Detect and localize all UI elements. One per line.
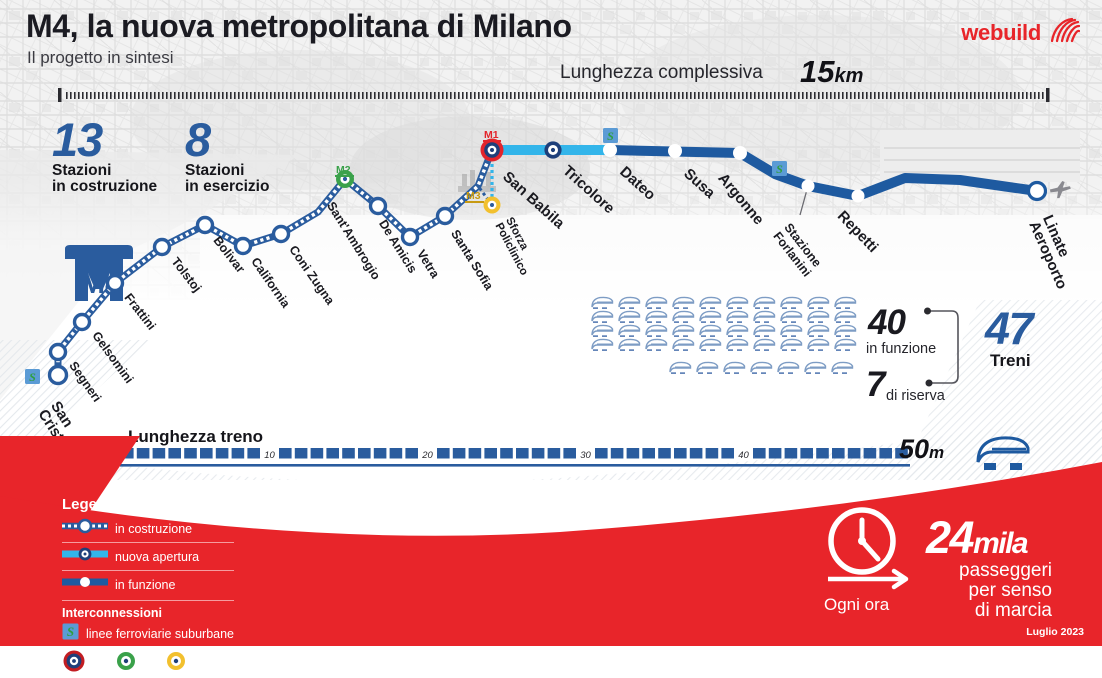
train-icon [805,324,830,337]
train-icon [697,310,722,323]
train-icon [670,310,695,323]
train-icon [670,296,695,309]
station-node-stazione-forlanini [802,180,815,193]
trains-total-label: Treni [990,351,1031,371]
station-node-san-cristoforo [50,367,67,384]
train-icon [832,338,857,351]
train-icon [778,324,803,337]
s-line-icon: S [62,623,79,645]
station-node-dateo [603,143,617,157]
legend-m2-icon [116,651,136,676]
train-row [589,310,857,323]
s-line-icon: S [603,128,618,143]
train-icon [643,338,668,351]
train-icon [589,338,614,351]
train-icon [748,361,773,374]
train-icon [643,296,668,309]
train-icon [775,361,800,374]
legend-swatch-new-opening [62,546,108,567]
passengers-number: 24mila [926,512,1027,564]
trains-reserve-number: 7 [866,365,884,405]
station-node-coni-zugna [274,227,289,242]
train-icon [724,310,749,323]
station-node-vetra [403,230,418,245]
legend-item-suburban: S linee ferroviarie suburbane [62,625,234,642]
legend-metro-lines: M1 M2 M3 [62,649,234,678]
legend-divider [62,600,234,601]
train-icon [721,361,746,374]
trains-bracket [924,306,966,393]
station-node-gelsomini [75,315,90,330]
footer-date: Luglio 2023 [1026,626,1084,638]
legend-swatch-under-construction [62,518,108,539]
train-icon [667,361,692,374]
train-icon [697,324,722,337]
clock-caption: Ogni ora [824,595,889,615]
train-icon [832,324,857,337]
station-node-tolstoj [155,240,170,255]
legend-m1-label: M1 [90,656,108,671]
train-icon [616,296,641,309]
legend-divider [62,542,234,543]
station-node-segneri [51,345,66,360]
train-icon [697,338,722,351]
train-icon [751,296,776,309]
legend-m1-icon [62,649,86,678]
train-row [589,296,857,309]
legend-label: in funzione [115,578,175,592]
legend-swatch-in-service [62,574,108,595]
train-icon [832,310,857,323]
train-icon [670,324,695,337]
train-icon [589,310,614,323]
train-icon [589,296,614,309]
svg-text:S: S [29,370,36,384]
trains-total-number: 47 [985,303,1032,355]
train-icon [694,361,719,374]
tag-m3: M3 [466,190,481,202]
legend: Legenda in costruzione nu [62,496,234,678]
station-node-california [236,239,251,254]
train-icon [751,324,776,337]
station-node-de-amicis [371,199,386,214]
station-node-frattini [108,276,123,291]
train-row [589,338,857,351]
trains-pictogram [589,296,857,375]
train-icon [778,310,803,323]
train-icon [805,310,830,323]
legend-divider [62,570,234,571]
train-icon [616,338,641,351]
train-row [589,324,857,337]
trains-in-service-number: 40 [868,303,905,343]
legend-m2-label: M2 [140,656,158,671]
train-icon [751,338,776,351]
train-icon [829,361,854,374]
train-icon [724,324,749,337]
clock-arrow-icon [822,505,914,596]
train-icon [805,296,830,309]
s-line-icon: S [772,161,787,176]
train-icon [805,338,830,351]
train-icon [616,324,641,337]
train-icon [751,310,776,323]
station-node-argonne [733,146,747,160]
legend-item-new-opening: nuova apertura [62,548,234,565]
train-icon [697,296,722,309]
legend-m3-icon [166,651,186,676]
train-row-reserve [667,361,857,374]
passengers-label: passeggeri per senso di marcia [944,561,1052,621]
svg-text:S: S [607,129,614,143]
station-node-bolivar [198,218,213,233]
legend-item-in-service: in funzione [62,576,234,593]
tag-m1: M1 [484,129,499,141]
legend-label: nuova apertura [115,550,199,564]
legend-item-under-construction: in costruzione [62,520,234,537]
legend-m3-label: M3 [190,656,208,671]
airplane-icon [1050,181,1071,198]
train-icon [832,296,857,309]
station-node-repetti [852,190,865,203]
s-line-icon: S [25,369,40,384]
station-node-linate [1029,183,1046,200]
legend-interconnections-title: Interconnessioni [62,606,234,620]
train-icon [724,296,749,309]
legend-title: Legenda [62,496,234,513]
station-node-santa-sofia [438,209,453,224]
legend-label: in costruzione [115,522,192,536]
train-icon [670,338,695,351]
train-icon [643,324,668,337]
train-icon [778,338,803,351]
svg-text:S: S [67,624,74,639]
legend-label: linee ferroviarie suburbane [86,627,234,641]
train-icon [589,324,614,337]
train-icon [724,338,749,351]
train-icon [778,296,803,309]
station-node-tricolore [544,141,561,158]
station-node-sforza-policlinico [484,197,501,214]
svg-text:S: S [776,162,783,176]
tag-m2: M2 [336,164,351,176]
train-icon [802,361,827,374]
infographic-root: M4, la nuova metropolitana di Milano Il … [0,0,1102,646]
station-node-susa [668,144,682,158]
train-icon [616,310,641,323]
train-icon [643,310,668,323]
